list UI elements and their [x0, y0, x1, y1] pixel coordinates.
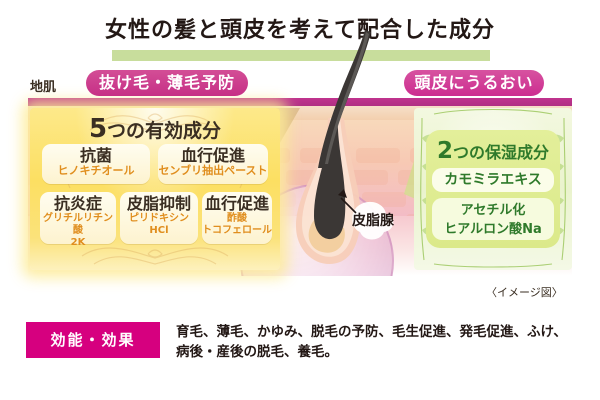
title-area: 女性の髪と頭皮を考えて配合した成分 [0, 12, 600, 46]
sebaceous-gland-label: 皮脂腺 [352, 210, 394, 230]
scalp-cross-section-illustration [28, 98, 572, 276]
efficacy-label-badge: 効能・効果 [26, 322, 160, 358]
badge-hairloss-prevention: 抜け毛・薄毛予防 [86, 70, 248, 96]
badge-scalp-moisture: 頭皮にうるおい [404, 70, 544, 96]
page-title: 女性の髪と頭皮を考えて配合した成分 [95, 12, 505, 46]
efficacy-description: 育毛、薄毛、かゆみ、脱毛の予防、毛生促進、発毛促進、ふけ、病後・産後の脱毛、養毛… [176, 322, 576, 362]
scalp-label: 地肌 [30, 76, 56, 95]
title-highlight-bar [112, 50, 490, 61]
image-disclaimer-note: 〈イメージ図〉 [486, 284, 563, 300]
hair-follicle-drawing [28, 98, 572, 276]
